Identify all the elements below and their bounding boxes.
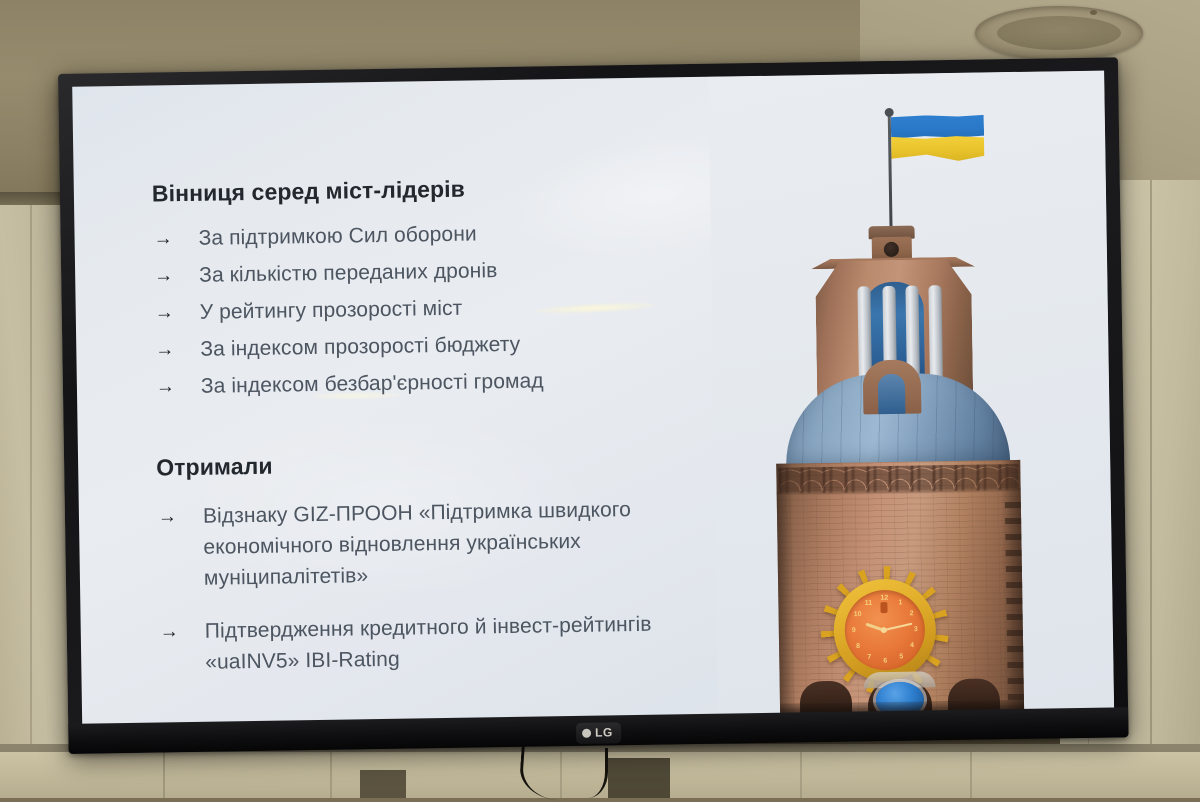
clock-numeral: 5	[899, 653, 903, 660]
clock-numeral: 3	[914, 626, 918, 633]
clock-pendulum-ornament	[880, 602, 887, 613]
flag-yellow-stripe	[891, 135, 984, 162]
clock-numeral: 4	[910, 642, 914, 649]
clock-numeral: 2	[910, 610, 914, 617]
list-item-label: За кількістю переданих дронів	[199, 256, 498, 291]
lg-brand-label: LG	[595, 725, 613, 739]
wall-seam	[163, 752, 165, 798]
list-item-label: За індексом прозорості бюджету	[200, 330, 520, 365]
arrow-right-icon: →	[159, 616, 205, 648]
dome-dormer-window	[878, 374, 906, 414]
clock-numeral: 10	[854, 611, 862, 618]
wall-seam	[1150, 180, 1152, 798]
ceiling-light-screw-icon	[1090, 10, 1097, 15]
slide-content: Вінниця серед міст-лідерів → За підтримк…	[152, 172, 700, 700]
clock-numeral: 1	[898, 599, 902, 606]
arrow-right-icon: →	[152, 224, 198, 255]
lg-logo: LG	[576, 722, 621, 744]
wall-seam	[330, 752, 332, 798]
clock-numeral: 12	[880, 595, 888, 602]
section-heading-leaders: Вінниця серед міст-лідерів	[152, 172, 692, 207]
arrow-right-icon: →	[155, 372, 201, 403]
tv-screen[interactable]: Вінниця серед міст-лідерів → За підтримк…	[72, 71, 1114, 728]
section-heading-received: Отримали	[156, 446, 696, 481]
wall-seam	[30, 205, 32, 798]
list-item: → Відзнаку GIZ-ПРООН «Підтримка швидкого…	[157, 493, 698, 594]
bullet-list-received: → Відзнаку GIZ-ПРООН «Підтримка швидкого…	[157, 493, 700, 678]
clock-numeral: 6	[883, 658, 887, 665]
list-item: → За кількістю переданих дронів	[153, 253, 693, 291]
wall-seam	[970, 752, 972, 798]
list-item: → У рейтингу прозорості міст	[154, 290, 694, 328]
background-dark-panel	[360, 770, 406, 798]
list-item-label: У рейтингу прозорості міст	[200, 294, 463, 328]
arrow-right-icon: →	[157, 501, 203, 533]
television[interactable]: Вінниця серед міст-лідерів → За підтримк…	[58, 57, 1129, 754]
recessed-ceiling-light-icon	[975, 6, 1143, 60]
arrow-right-icon: →	[154, 335, 200, 366]
slide-section-leaders: Вінниця серед міст-лідерів → За підтримк…	[152, 172, 695, 402]
list-item: → Підтвердження кредитного й інвест-рейт…	[159, 608, 700, 678]
arrow-right-icon: →	[154, 298, 200, 329]
room-background: Вінниця серед міст-лідерів → За підтримк…	[0, 0, 1200, 798]
list-item-label: За підтримкою Сил оборони	[198, 219, 477, 253]
bullet-list-leaders: → За підтримкою Сил оборони → За кількіс…	[152, 216, 695, 402]
clock-center-pin	[881, 627, 887, 633]
list-item-label: За індексом безбар'єрності громад	[201, 366, 544, 401]
clock-numeral: 11	[865, 600, 873, 607]
ukrainian-flag-icon	[891, 114, 985, 161]
clock-numeral: 9	[852, 627, 856, 634]
list-item-label: Підтвердження кредитного й інвест-рейтин…	[205, 608, 700, 678]
arrow-right-icon: →	[153, 261, 199, 292]
list-item-label: Відзнаку GIZ-ПРООН «Підтримка швидкого е…	[203, 493, 698, 594]
slide-photo-tower: 12 1 2 3 4 5 6 7 8 9 10 11	[708, 71, 1114, 718]
clock-numeral: 8	[856, 643, 860, 650]
lg-circle-icon	[582, 728, 591, 737]
clock-numeral: 7	[867, 654, 871, 661]
flag-blue-stripe	[891, 114, 984, 138]
list-item: → За індексом прозорості бюджету	[154, 327, 694, 365]
list-item: → За індексом безбар'єрності громад	[155, 364, 695, 402]
list-item: → За підтримкою Сил оборони	[152, 216, 692, 254]
slide-section-received: Отримали → Відзнаку GIZ-ПРООН «Підтримка…	[156, 446, 699, 678]
background-dark-panel	[608, 758, 670, 798]
tower-corner-quoins	[1005, 502, 1024, 712]
wall-seam	[800, 752, 802, 798]
